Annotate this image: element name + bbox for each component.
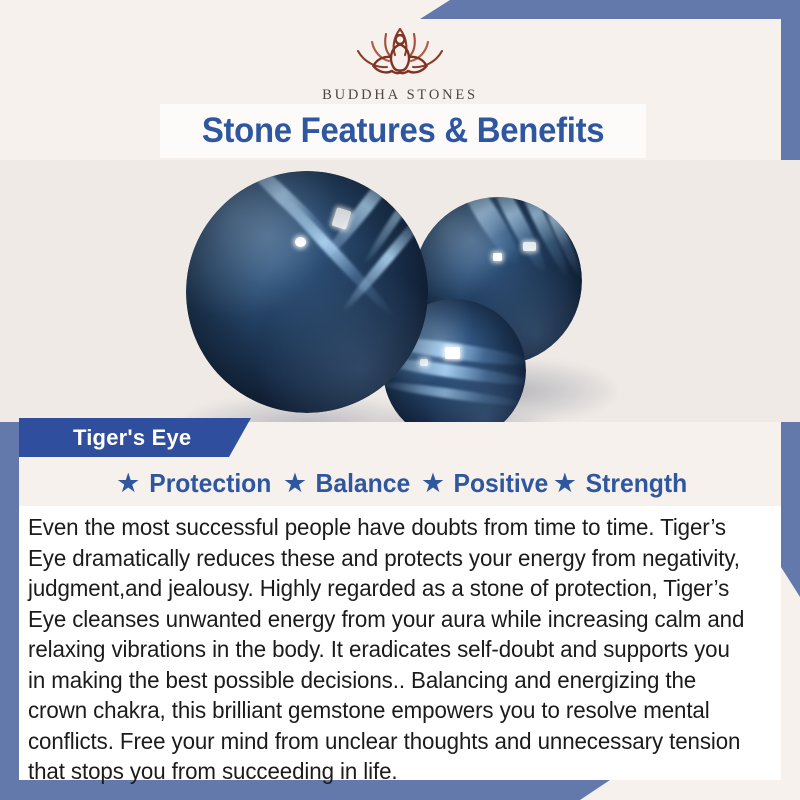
benefit-item-balance: ★ Balance — [277, 468, 413, 499]
star-icon: ★ — [116, 470, 140, 497]
sphere-shading — [186, 171, 428, 413]
stone-name-tag: Tiger's Eye — [19, 418, 251, 457]
page-title: Stone Features & Benefits — [202, 111, 604, 151]
benefit-item-protection: ★ Protection — [110, 468, 275, 499]
benefit-label: Strength — [586, 468, 688, 499]
star-icon: ★ — [553, 470, 577, 497]
description-body: Even the most successful people have dou… — [28, 512, 745, 787]
frame-accent-top — [420, 0, 800, 19]
star-icon: ★ — [421, 470, 445, 497]
page-title-band: Stone Features & Benefits — [160, 104, 646, 158]
benefit-label: Balance — [316, 468, 411, 499]
benefit-item-strength: ★ Strength — [553, 468, 690, 499]
brand-wordmark: BUDDHA STONES — [322, 87, 478, 104]
stone-name-label: Tiger's Eye — [19, 425, 191, 451]
lotus-meditation-figure-icon — [334, 18, 466, 84]
brand-logo: BUDDHA STONES — [0, 18, 800, 104]
stone-photo — [0, 160, 800, 422]
benefit-item-positive: ★ Positive — [415, 468, 551, 499]
stone-sphere-large — [186, 171, 428, 413]
benefits-row: ★ Protection ★ Balance ★ Positive ★ Stre… — [19, 461, 781, 505]
benefit-label: Protection — [150, 468, 272, 499]
benefit-label: Positive — [454, 468, 549, 499]
description-panel: Even the most successful people have dou… — [19, 506, 781, 780]
star-icon: ★ — [283, 470, 307, 497]
poster-canvas: BUDDHA STONES Stone Features & Benefits … — [0, 0, 800, 800]
